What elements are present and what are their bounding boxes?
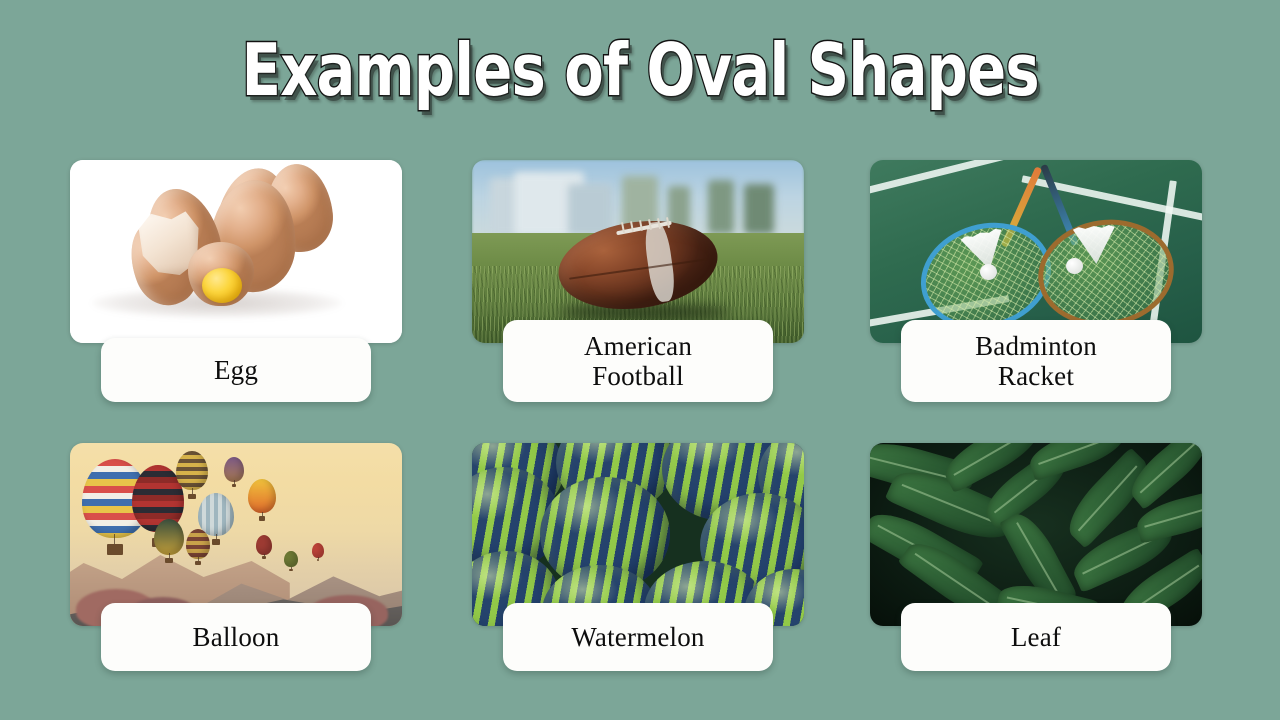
balloon-photo	[70, 443, 402, 626]
american-football-photo	[472, 160, 804, 343]
page-title: Examples of Oval Shapes	[241, 34, 1038, 106]
card-label-american-football: American Football	[503, 320, 773, 402]
examples-grid: Egg	[0, 160, 1280, 720]
card-label-text: Watermelon	[571, 622, 704, 652]
watermelon-photo	[472, 443, 804, 626]
card-label-egg: Egg	[101, 338, 371, 402]
card-label-leaf: Leaf	[901, 603, 1171, 671]
title-bar: Examples of Oval Shapes	[0, 0, 1280, 140]
badminton-racket-photo	[870, 160, 1202, 343]
card-label-badminton-racket: Badminton Racket	[901, 320, 1171, 402]
leaf-photo	[870, 443, 1202, 626]
card-label-text: Egg	[214, 355, 258, 385]
card-label-watermelon: Watermelon	[503, 603, 773, 671]
egg-photo	[70, 160, 402, 343]
card-label-balloon: Balloon	[101, 603, 371, 671]
card-label-text: Badminton Racket	[975, 331, 1097, 391]
card-label-text: Balloon	[193, 622, 280, 652]
card-label-text: Leaf	[1011, 622, 1061, 652]
card-label-text: American Football	[584, 331, 692, 391]
